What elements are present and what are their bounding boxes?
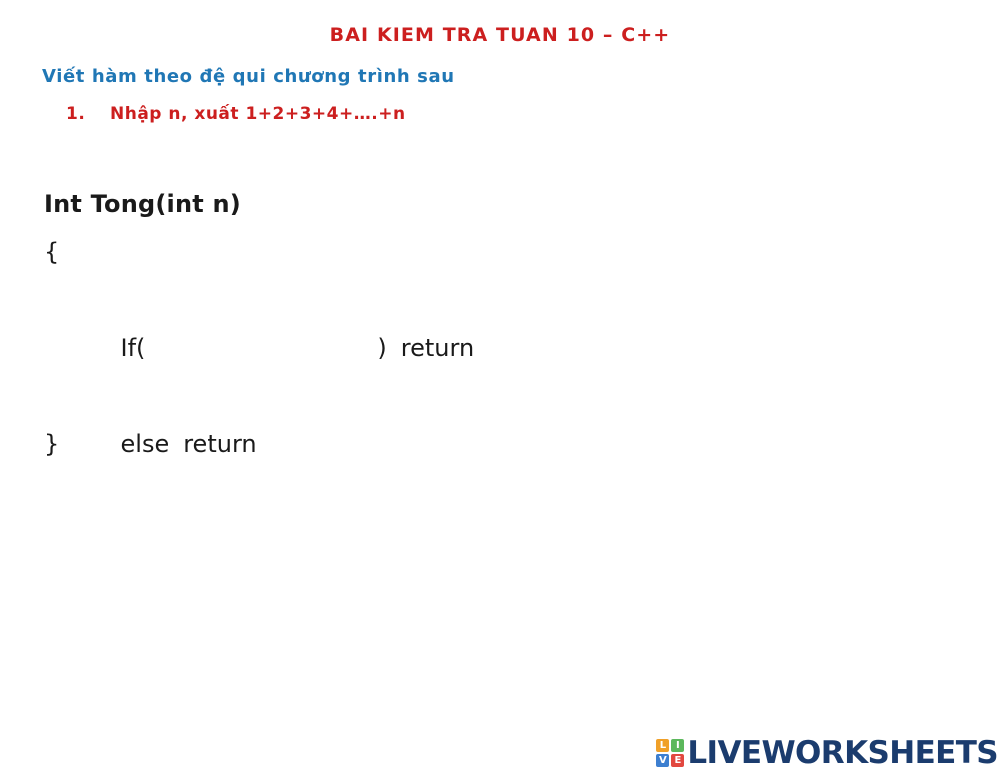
- code-line-else: elsereturn: [44, 372, 744, 420]
- logo-tile-v: V: [656, 754, 669, 767]
- page-title: BAI KIEM TRA TUAN 10 – C++: [0, 24, 1000, 46]
- if-return-keyword: return: [401, 334, 474, 362]
- task-list: 1. Nhập n, xuất 1+2+3+4+….+n: [66, 104, 406, 124]
- code-line-signature: Int Tong(int n): [44, 180, 744, 228]
- liveworksheets-logo: L I V E LIVEWORKSHEETS: [656, 736, 998, 770]
- liveworksheets-wordmark: LIVEWORKSHEETS: [687, 736, 998, 770]
- else-return-keyword: return: [183, 430, 256, 458]
- task-text: Nhập n, xuất 1+2+3+4+….+n: [110, 104, 406, 124]
- logo-tile-l: L: [656, 739, 669, 752]
- if-keyword: If(: [121, 334, 146, 362]
- logo-tile-i: I: [671, 739, 684, 752]
- logo-tile-e: E: [671, 754, 684, 767]
- code-line-open-brace: {: [44, 228, 744, 276]
- code-line-if: If()return: [44, 276, 744, 324]
- list-item: 1. Nhập n, xuất 1+2+3+4+….+n: [66, 104, 406, 124]
- task-number: 1.: [66, 104, 110, 124]
- instruction-subtitle: Viết hàm theo đệ qui chương trình sau: [42, 66, 455, 87]
- if-close-paren: ): [377, 334, 386, 362]
- code-block: Int Tong(int n) { If()return elsereturn …: [44, 180, 744, 468]
- else-keyword: else: [121, 430, 170, 458]
- liveworksheets-mark-icon: L I V E: [656, 739, 684, 767]
